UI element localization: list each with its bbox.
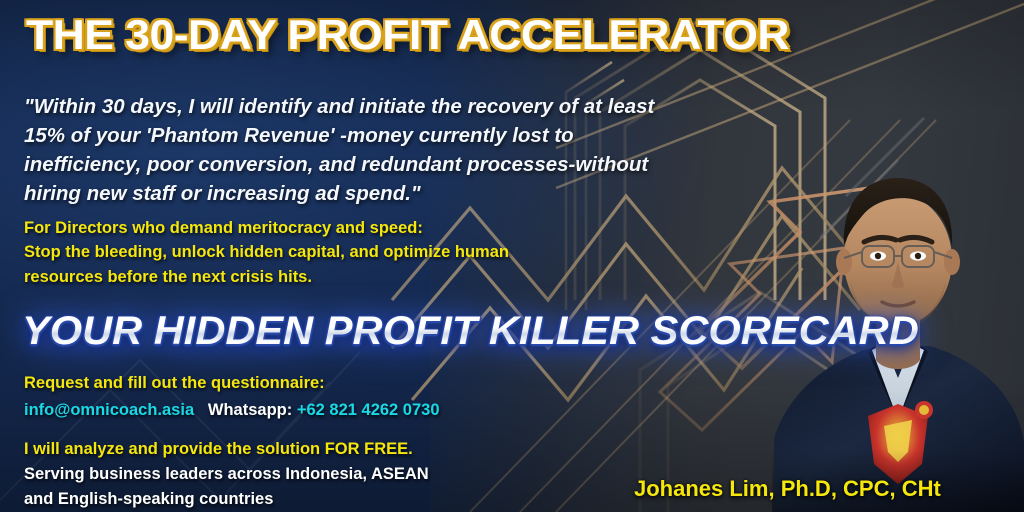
closing-block: I will analyze and provide the solution … xyxy=(24,437,429,512)
closing-line-1: I will analyze and provide the solution … xyxy=(24,437,429,462)
cta-request-line: Request and fill out the questionnaire: xyxy=(24,371,440,396)
secondary-headline: YOUR HIDDEN PROFIT KILLER SCORECARD xyxy=(22,311,919,351)
whatsapp-number[interactable]: +62 821 4262 0730 xyxy=(297,401,440,419)
promise-quote: "Within 30 days, I will identify and ini… xyxy=(24,92,696,208)
whatsapp-label: Whatsapp: xyxy=(208,401,292,419)
subheadline-line-3: resources before the next crisis hits. xyxy=(24,268,312,286)
contact-email[interactable]: info@omnicoach.asia xyxy=(24,401,194,419)
primary-headline: THE 30-DAY PROFIT ACCELERATOR xyxy=(26,14,789,56)
subheadline-line-2: Stop the bleeding, unlock hidden capital… xyxy=(24,243,509,261)
closing-line-3: and English-speaking countries xyxy=(24,487,429,512)
closing-line-2: Serving business leaders across Indonesi… xyxy=(24,462,429,487)
subheadline-line-1: For Directors who demand meritocracy and… xyxy=(24,219,423,237)
cta-contact-line: info@omnicoach.asia Whatsapp: +62 821 42… xyxy=(24,398,440,423)
presenter-credit: Johanes Lim, Ph.D, CPC, CHt xyxy=(634,476,941,502)
subheadline-block: For Directors who demand meritocracy and… xyxy=(24,216,684,289)
promo-banner: THE 30-DAY PROFIT ACCELERATOR "Within 30… xyxy=(0,0,1024,512)
cta-block: Request and fill out the questionnaire: … xyxy=(24,371,440,423)
